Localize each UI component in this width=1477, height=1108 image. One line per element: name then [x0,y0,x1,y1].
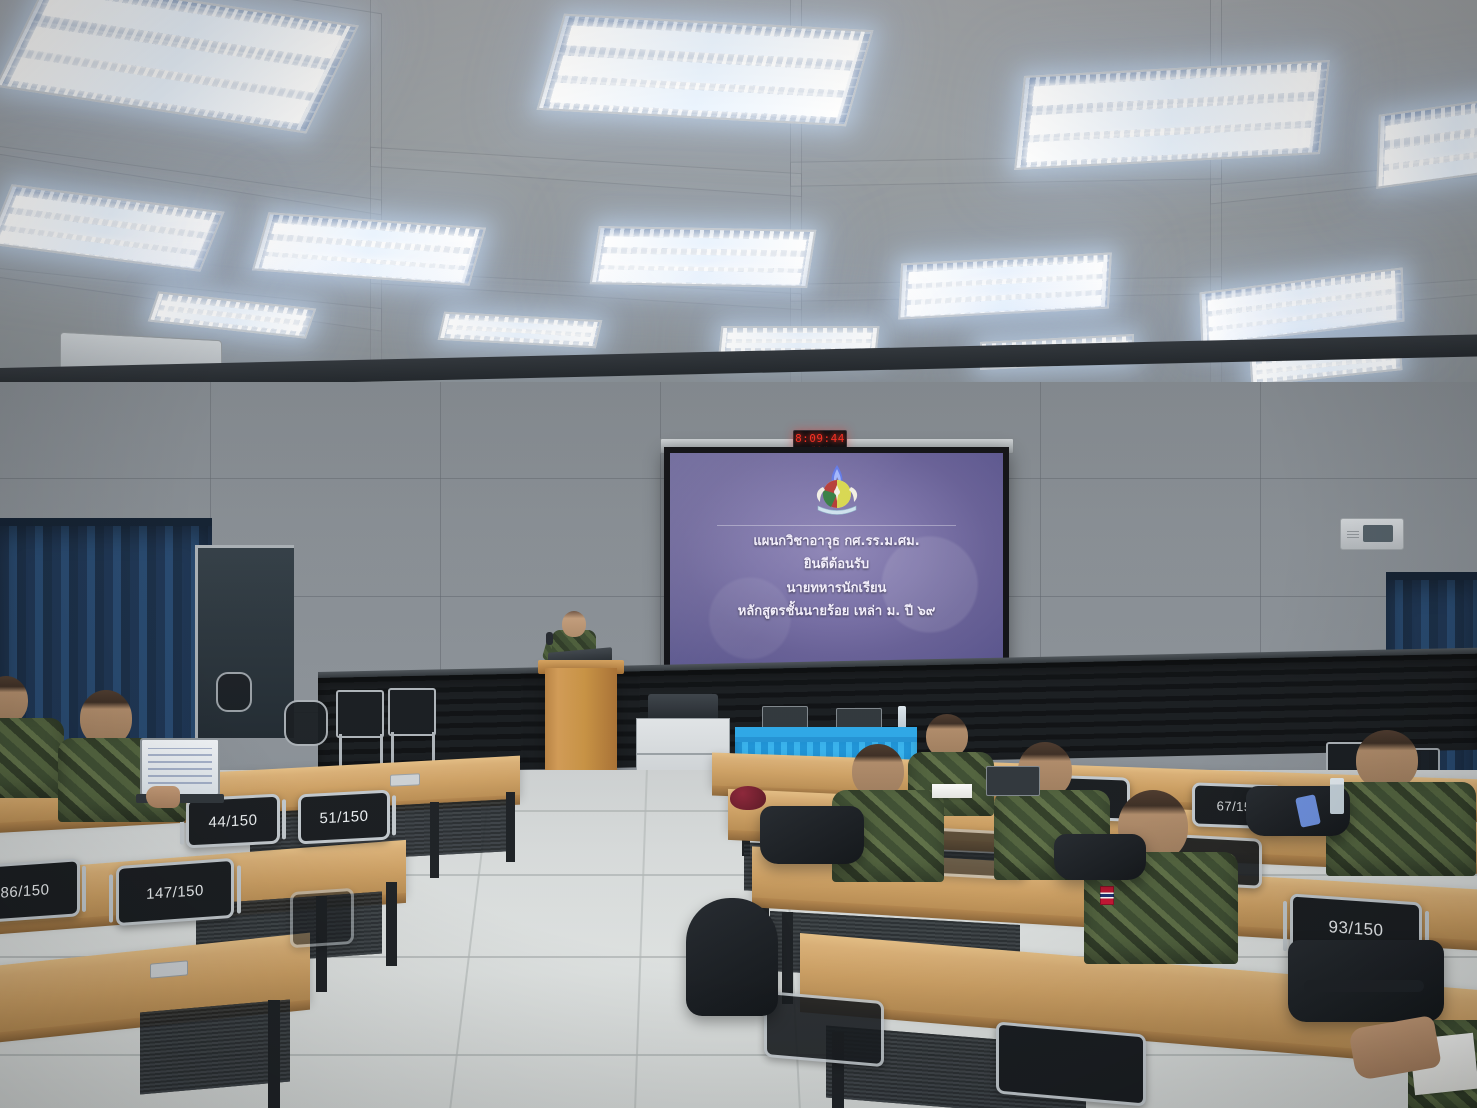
presenter-head [562,611,586,637]
bag-strap [1304,980,1424,992]
chair[interactable] [996,1021,1146,1106]
folding-chair[interactable] [336,690,384,738]
ceiling-light-fixture [537,14,874,126]
slide-line-1: แผนกวิชาอาวุธ กศ.รร.ม.ศม. [753,534,919,550]
microphone-icon [546,632,553,645]
backpack [760,806,864,864]
projection-screen: แผนกวิชาอาวุธ กศ.รร.ม.ศม. ยินดีต้อนรับ น… [664,447,1009,671]
desk-leg [268,1000,280,1108]
laptop[interactable] [986,766,1040,796]
folding-chair[interactable] [216,672,252,712]
seat-number: 86/150 [1,881,50,901]
seat-number: 51/150 [320,807,369,827]
folding-chair[interactable] [284,700,328,746]
chair[interactable] [290,888,354,948]
slide-divider [717,525,957,526]
projection-screen-surface: แผนกวิชาอาวุธ กศ.รร.ม.ศม. ยินดีต้อนรับ น… [670,453,1003,665]
desk-leg [782,912,793,1004]
seat-number: 93/150 [1329,917,1384,941]
folding-chair[interactable] [388,688,436,736]
desk-leg [430,802,439,878]
classroom-photo-scene: 8:09:44 • M D Y • [0,0,1477,1108]
numbered-chair[interactable]: 147/150 [116,858,234,926]
chair[interactable] [764,991,884,1067]
clock-time: 8:09:44 [795,433,845,444]
seated-soldier [0,676,64,792]
slide-line-3: นายทหารนักเรียน [787,581,887,597]
papers [932,784,972,798]
seated-soldier [1330,730,1470,870]
seat-number: 147/150 [146,881,204,902]
numbered-chair[interactable]: 51/150 [298,790,390,845]
water-bottle [1330,778,1344,814]
duffel-bag-on-floor [686,898,778,1016]
ceiling-light-fixture [590,226,817,288]
desk-leg [506,792,515,862]
wall-mounted-control-unit[interactable] [1340,518,1404,550]
desk-cable-grommet [390,773,420,787]
hand [146,786,180,808]
slide-line-2: ยินดีต้อนรับ [804,557,869,573]
slide-line-4: หลักสูตรชั้นนายร้อย เหล่า ม. ปี ๖๙ [738,604,936,620]
ceiling-light-fixture [898,252,1112,319]
ceiling-light-fixture [1014,60,1330,170]
bag [1054,834,1146,880]
numbered-chair[interactable]: 86/150 [0,858,80,924]
desk-leg [386,882,397,966]
beret [730,786,766,810]
military-unit-emblem-icon [811,463,863,519]
